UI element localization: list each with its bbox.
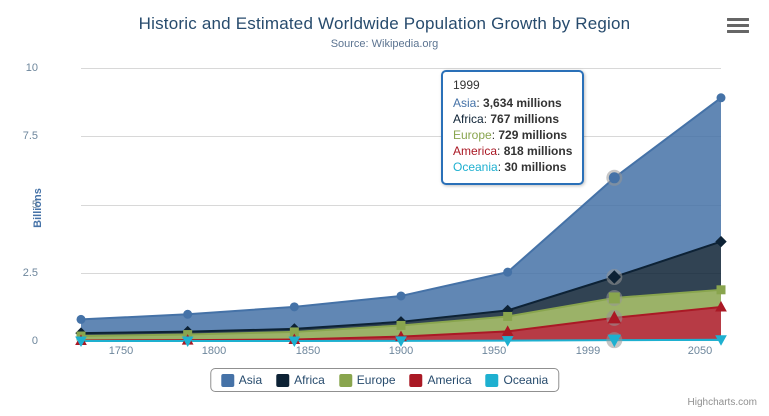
tooltip-series-name: Europe: [453, 128, 492, 142]
y-tick-label: 0: [0, 335, 38, 347]
tooltip-series-name: America: [453, 144, 497, 158]
series-layer: [81, 68, 721, 341]
data-point-marker[interactable]: [504, 268, 512, 276]
legend-label: Europe: [357, 373, 396, 387]
data-point-marker[interactable]: [609, 293, 619, 303]
chart-subtitle: Source: Wikipedia.org: [0, 38, 769, 50]
plot-area: [81, 68, 721, 341]
legend-swatch-icon: [339, 374, 352, 387]
chart-title: Historic and Estimated Worldwide Populat…: [0, 14, 769, 34]
data-point-marker[interactable]: [397, 292, 405, 300]
tooltip-series-name: Asia: [453, 96, 476, 110]
data-point-marker[interactable]: [717, 94, 725, 102]
legend: AsiaAfricaEuropeAmericaOceania: [210, 368, 559, 392]
legend-swatch-icon: [221, 374, 234, 387]
tooltip-separator: :: [476, 96, 483, 110]
tooltip-separator: :: [497, 144, 504, 158]
y-tick-label: 5: [0, 199, 38, 211]
x-tick-label: 2050: [688, 345, 712, 357]
tooltip-series-value: 729 millions: [498, 128, 567, 142]
y-tick-label: 10: [0, 62, 38, 74]
tooltip-row: Oceania: 30 millions: [453, 159, 572, 175]
x-tick-label: 1950: [482, 345, 506, 357]
data-point-marker[interactable]: [290, 303, 298, 311]
tooltip: 1999 Asia: 3,634 millionsAfrica: 767 mil…: [441, 70, 584, 185]
legend-swatch-icon: [486, 374, 499, 387]
highcharts-container: Historic and Estimated Worldwide Populat…: [0, 0, 769, 416]
legend-item-europe[interactable]: Europe: [339, 373, 396, 387]
tooltip-rows: Asia: 3,634 millionsAfrica: 767 millions…: [453, 95, 572, 175]
legend-label: America: [428, 373, 472, 387]
legend-label: Asia: [239, 373, 262, 387]
x-tick-label: 1850: [296, 345, 320, 357]
tooltip-row: Africa: 767 millions: [453, 111, 572, 127]
tooltip-row: America: 818 millions: [453, 143, 572, 159]
menu-bar-1: [727, 18, 749, 21]
x-tick-label: 1800: [202, 345, 226, 357]
legend-item-america[interactable]: America: [410, 373, 472, 387]
tooltip-series-value: 818 millions: [504, 144, 573, 158]
data-point-marker[interactable]: [504, 312, 512, 320]
tooltip-series-value: 767 millions: [490, 112, 559, 126]
hamburger-menu-icon[interactable]: [727, 18, 749, 34]
tooltip-series-value: 30 millions: [504, 160, 566, 174]
legend-item-africa[interactable]: Africa: [276, 373, 325, 387]
data-point-marker[interactable]: [397, 321, 405, 329]
menu-bar-2: [727, 24, 749, 27]
legend-label: Oceania: [504, 373, 549, 387]
data-point-marker[interactable]: [184, 310, 192, 318]
legend-swatch-icon: [276, 374, 289, 387]
tooltip-series-name: Africa: [453, 112, 484, 126]
y-tick-label: 2.5: [0, 267, 38, 279]
x-tick-label: 1999: [576, 345, 600, 357]
data-point-marker[interactable]: [717, 286, 725, 294]
x-tick-label: 1750: [109, 345, 133, 357]
tooltip-series-name: Oceania: [453, 160, 498, 174]
credits-label[interactable]: Highcharts.com: [688, 397, 757, 408]
tooltip-header: 1999: [453, 78, 572, 92]
data-point-marker[interactable]: [77, 315, 85, 323]
legend-item-oceania[interactable]: Oceania: [486, 373, 549, 387]
y-tick-label: 7.5: [0, 130, 38, 142]
legend-label: Africa: [294, 373, 325, 387]
legend-item-asia[interactable]: Asia: [221, 373, 262, 387]
legend-swatch-icon: [410, 374, 423, 387]
x-tick-label: 1900: [389, 345, 413, 357]
menu-bar-3: [727, 30, 749, 33]
data-point-marker[interactable]: [609, 173, 619, 183]
tooltip-row: Asia: 3,634 millions: [453, 95, 572, 111]
tooltip-row: Europe: 729 millions: [453, 127, 572, 143]
tooltip-series-value: 3,634 millions: [483, 96, 562, 110]
